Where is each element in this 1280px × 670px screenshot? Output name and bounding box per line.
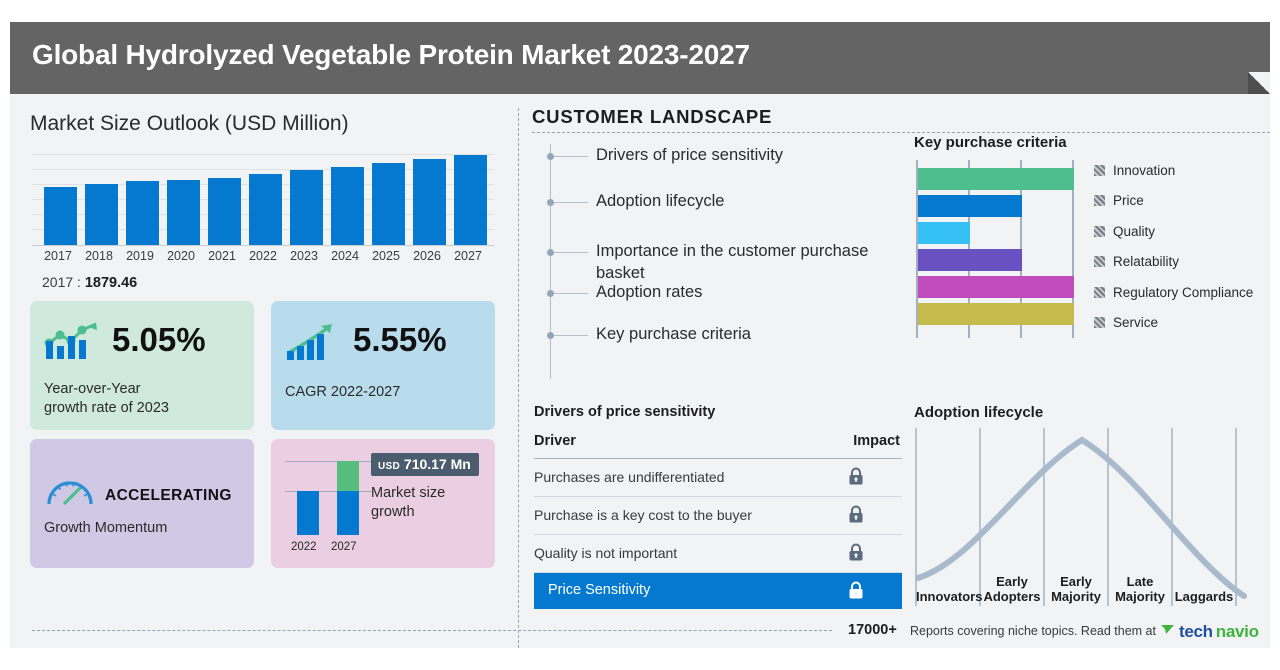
drivers-table: Driver Impact Purchases are undifferenti… xyxy=(534,430,902,609)
market-size-value-badge: USD 710.17 Mn xyxy=(371,453,479,476)
speedometer-icon xyxy=(46,475,94,512)
table-header-row: Driver Impact xyxy=(534,430,902,459)
column-header-driver: Driver xyxy=(534,433,576,449)
x-tick-2019: 2019 xyxy=(120,249,160,263)
bar-2018 xyxy=(85,184,118,245)
footer-divider xyxy=(32,630,832,631)
left-panel: Market Size Outlook (USD Million) 201720… xyxy=(10,94,510,648)
lock-icon xyxy=(848,543,864,566)
bar-2023 xyxy=(290,170,323,245)
adoption-lifecycle-chart: Adoption lifecycle Innovators xyxy=(914,404,1270,634)
tree-connector xyxy=(554,293,588,294)
table-row[interactable]: Purchase is a key cost to the buyer xyxy=(534,497,902,535)
kpc-bar-price xyxy=(918,195,1022,217)
column-header-impact: Impact xyxy=(853,433,900,449)
tree-bullet-icon xyxy=(547,249,554,256)
bar-2022 xyxy=(249,174,282,245)
tree-bullet-icon xyxy=(547,290,554,297)
first-year-value: 2017 : 1879.46 xyxy=(42,274,137,291)
kpc-plot-area xyxy=(916,160,1076,338)
x-tick-2026: 2026 xyxy=(407,249,447,263)
footer-text: Reports covering niche topics. Read them… xyxy=(910,624,1156,638)
tree-connector xyxy=(554,252,588,253)
kpi-value: 5.55% xyxy=(353,321,447,359)
legend-swatch-hatch-icon xyxy=(1094,317,1105,328)
market-size-value: 710.17 Mn xyxy=(404,456,471,472)
x-tick-2018: 2018 xyxy=(79,249,119,263)
x-tick-2025: 2025 xyxy=(366,249,406,263)
lock-icon xyxy=(848,581,864,604)
driver-cell: Purchases are undifferentiated xyxy=(534,469,724,485)
page-title: Global Hydrolyzed Vegetable Protein Mark… xyxy=(32,39,750,71)
legend-item-regulatory-compliance: Regulatory Compliance xyxy=(1094,284,1253,300)
key-purchase-criteria-chart: Key purchase criteria InnovationPriceQua… xyxy=(914,134,1270,354)
title-underline xyxy=(532,132,1270,133)
tree-bullet-icon xyxy=(547,199,554,206)
legend-label: Innovation xyxy=(1113,163,1175,178)
legend-item-quality: Quality xyxy=(1094,223,1155,239)
legend-item-relatability: Relatability xyxy=(1094,254,1179,270)
legend-label: Regulatory Compliance xyxy=(1113,285,1253,300)
first-year-number: 1879.46 xyxy=(85,275,137,291)
adoption-lifecycle-title: Adoption lifecycle xyxy=(914,404,1043,421)
customer-landscape-tree: Drivers of price sensitivityAdoption lif… xyxy=(550,140,950,390)
tree-item-label: Key purchase criteria xyxy=(596,323,896,345)
tree-item-label: Adoption rates xyxy=(596,281,896,303)
kpi-caption: Growth Momentum xyxy=(44,519,167,538)
market-size-title: Market Size Outlook (USD Million) xyxy=(30,112,349,136)
x-tick-2024: 2024 xyxy=(325,249,365,263)
bar-chart-x-axis: 2017201820192020202120222023202420252026… xyxy=(32,249,494,267)
report-count: 17000+ xyxy=(848,622,897,638)
content-canvas: Global Hydrolyzed Vegetable Protein Mark… xyxy=(10,22,1270,648)
bar-2017 xyxy=(44,187,77,245)
first-year-label: 2017 : xyxy=(42,274,81,290)
kpi-value: 5.05% xyxy=(112,321,206,359)
table-row[interactable]: Price Sensitivity xyxy=(534,573,902,609)
tree-connector xyxy=(554,156,588,157)
kpc-bar-innovation xyxy=(918,168,1074,190)
logo-text-navio: navio xyxy=(1216,622,1259,642)
legend-label: Quality xyxy=(1113,224,1155,239)
stage-label-innovators: Innovators xyxy=(916,589,980,604)
kpi-caption: CAGR 2022-2027 xyxy=(285,383,400,402)
corner-fold-decoration xyxy=(1248,72,1270,94)
kpi-card-market-size-growth: 2022 2027 USD 710.17 Mn Market size grow… xyxy=(271,439,495,568)
technavio-logo[interactable]: technavio xyxy=(1160,621,1259,642)
tree-bullet-icon xyxy=(547,153,554,160)
kpc-bar-relatability xyxy=(918,249,1022,271)
drivers-title: Drivers of price sensitivity xyxy=(534,404,715,420)
table-row[interactable]: Quality is not important xyxy=(534,535,902,573)
kpc-bar-quality xyxy=(918,222,970,244)
legend-swatch-hatch-icon xyxy=(1094,195,1105,206)
market-size-bar-chart xyxy=(32,154,494,246)
tree-connector xyxy=(554,202,588,203)
kpc-bar-regulatory-compliance xyxy=(918,276,1074,298)
tree-item-label: Drivers of price sensitivity xyxy=(596,144,896,166)
bar-2024 xyxy=(331,167,364,245)
bar-2019 xyxy=(126,181,159,245)
kpi-caption-line1: Market size xyxy=(371,484,445,503)
stage-label-early-majority: EarlyMajority xyxy=(1044,574,1108,604)
tree-connector xyxy=(554,335,588,336)
driver-cell: Price Sensitivity xyxy=(548,582,650,598)
mini-bar-label-2027: 2027 xyxy=(331,541,357,553)
legend-label: Price xyxy=(1113,193,1144,208)
x-tick-2017: 2017 xyxy=(38,249,78,263)
legend-swatch-hatch-icon xyxy=(1094,165,1105,176)
stage-label-early-adopters: EarlyAdopters xyxy=(980,574,1044,604)
tree-item-label: Importance in the customer purchase bask… xyxy=(596,240,896,284)
kpc-bar-service xyxy=(918,303,1074,325)
x-tick-2021: 2021 xyxy=(202,249,242,263)
technavio-mark-icon xyxy=(1160,621,1176,642)
bar-2025 xyxy=(372,163,405,245)
market-growth-bars-icon: 2022 2027 xyxy=(285,453,375,553)
driver-cell: Purchase is a key cost to the buyer xyxy=(534,507,752,523)
legend-item-service: Service xyxy=(1094,315,1158,331)
driver-cell: Quality is not important xyxy=(534,545,677,561)
tree-spine xyxy=(550,144,551,379)
bar-2020 xyxy=(167,180,200,245)
legend-swatch-hatch-icon xyxy=(1094,256,1105,267)
infographic-page: Global Hydrolyzed Vegetable Protein Mark… xyxy=(0,0,1280,670)
logo-text-tech: tech xyxy=(1179,622,1213,642)
lock-icon xyxy=(848,467,864,490)
kpi-card-cagr: 5.55% CAGR 2022-2027 xyxy=(271,301,495,430)
bar-2021 xyxy=(208,178,241,245)
x-tick-2022: 2022 xyxy=(243,249,283,263)
stage-label-late-majority: LateMajority xyxy=(1108,574,1172,604)
kpi-card-yoy-growth: 5.05% Year-over-Year growth rate of 2023 xyxy=(30,301,254,430)
legend-item-innovation: Innovation xyxy=(1094,162,1175,178)
mini-bar-label-2022: 2022 xyxy=(291,541,317,553)
bar-2026 xyxy=(413,159,446,245)
customer-landscape-title: CUSTOMER LANDSCAPE xyxy=(532,106,772,128)
legend-label: Service xyxy=(1113,315,1158,330)
right-panel: CUSTOMER LANDSCAPE Drivers of price sens… xyxy=(526,94,1270,648)
kpi-caption-line2: growth rate of 2023 xyxy=(44,399,169,418)
legend-item-price: Price xyxy=(1094,193,1144,209)
x-tick-2020: 2020 xyxy=(161,249,201,263)
kpi-caption-line1: Year-over-Year xyxy=(44,380,169,399)
kpc-title: Key purchase criteria xyxy=(914,134,1067,151)
x-tick-2027: 2027 xyxy=(448,249,488,263)
legend-label: Relatability xyxy=(1113,254,1179,269)
bar-line-growth-icon xyxy=(44,321,102,366)
bar-series xyxy=(44,154,494,245)
header-bar: Global Hydrolyzed Vegetable Protein Mark… xyxy=(10,22,1270,94)
bar-arrow-growth-icon xyxy=(285,323,337,366)
legend-swatch-hatch-icon xyxy=(1094,287,1105,298)
panel-divider xyxy=(518,108,519,648)
stage-label-laggards: Laggards xyxy=(1172,589,1236,604)
kpi-value: ACCELERATING xyxy=(105,487,232,505)
currency-label: USD xyxy=(378,461,400,472)
kpi-caption: Year-over-Year growth rate of 2023 xyxy=(44,380,169,418)
kpi-caption-line2: growth xyxy=(371,503,445,522)
lock-icon xyxy=(848,505,864,528)
x-tick-2023: 2023 xyxy=(284,249,324,263)
tree-item-label: Adoption lifecycle xyxy=(596,190,896,212)
bar-2027 xyxy=(454,155,487,245)
kpi-caption: Market size growth xyxy=(371,484,445,522)
tree-bullet-icon xyxy=(547,332,554,339)
kpi-card-growth-momentum: ACCELERATING Growth Momentum xyxy=(30,439,254,568)
legend-swatch-hatch-icon xyxy=(1094,226,1105,237)
footer: 17000+ Reports covering niche topics. Re… xyxy=(10,614,1270,648)
adoption-lifecycle-plot: Innovators EarlyAdopters EarlyMajority L… xyxy=(914,428,1266,606)
table-row[interactable]: Purchases are undifferentiated xyxy=(534,459,902,497)
